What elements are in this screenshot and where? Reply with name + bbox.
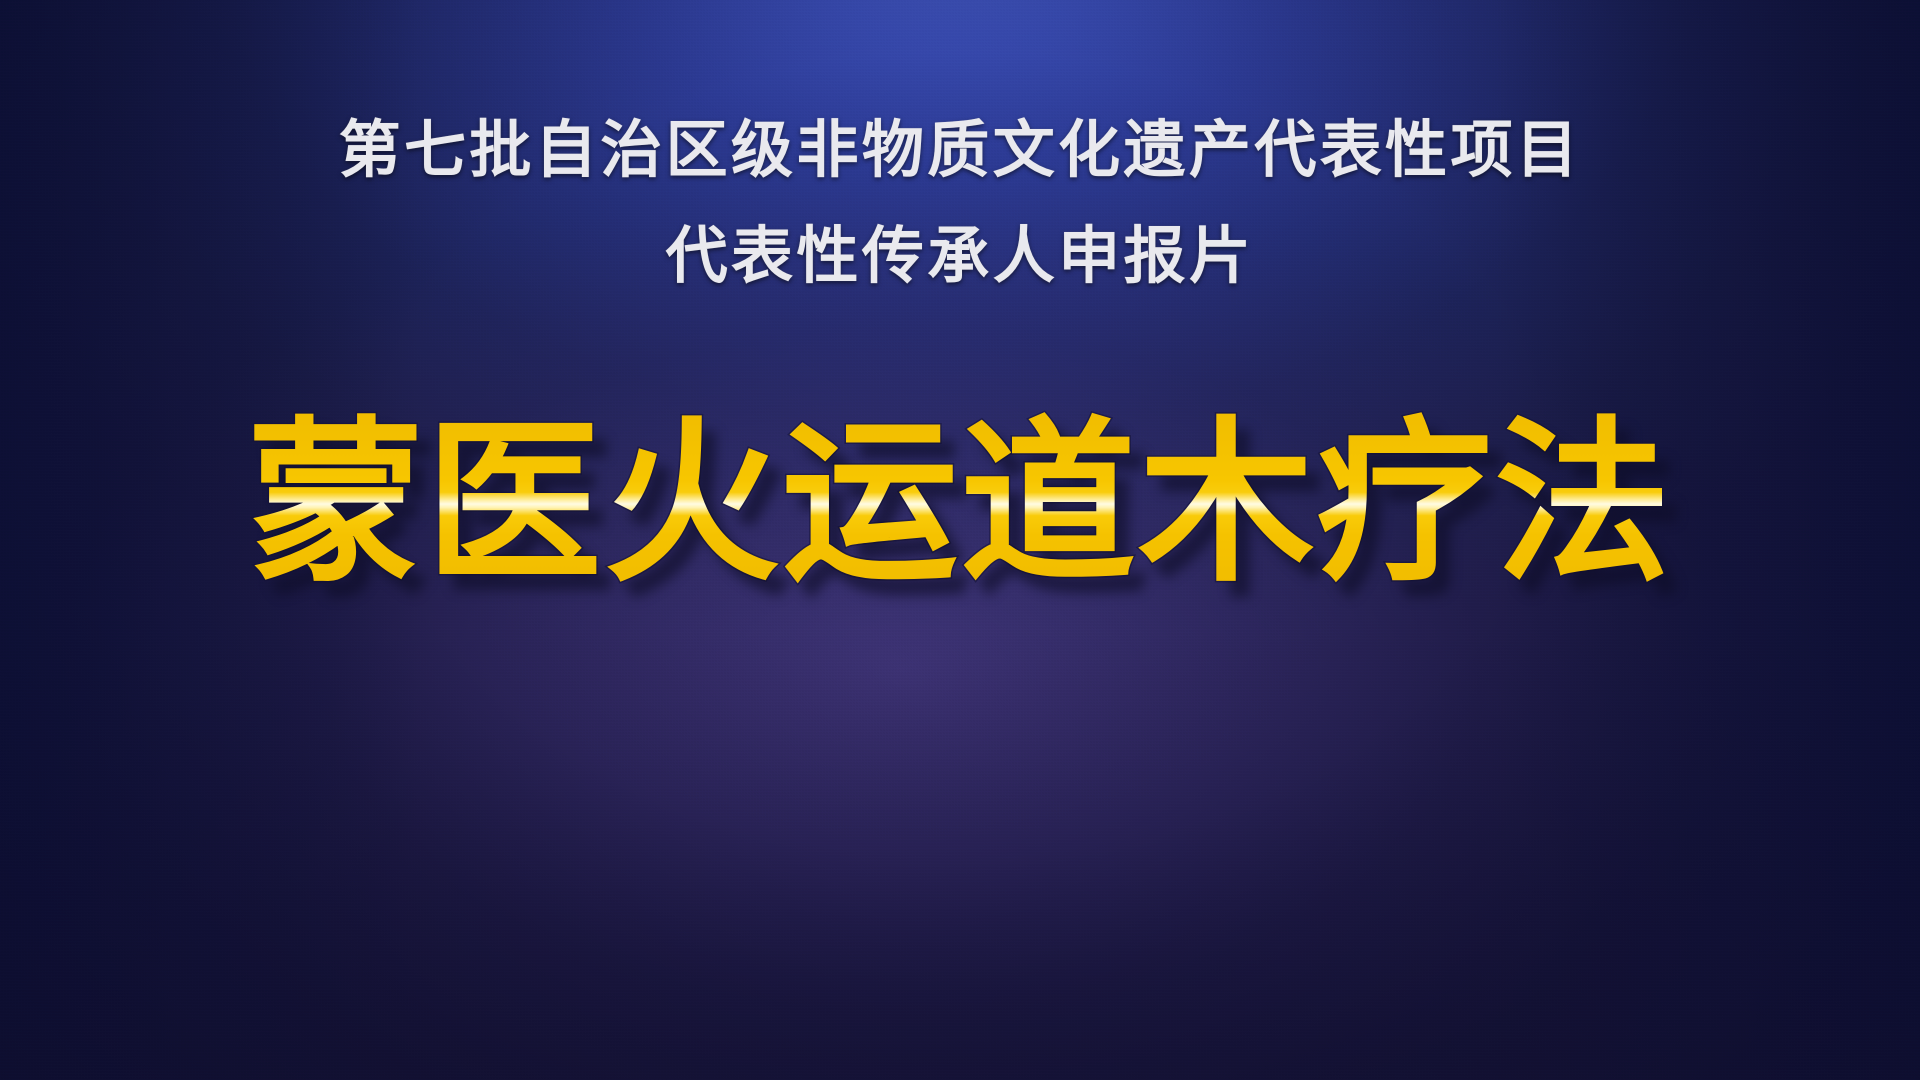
main-title-face: 蒙医火运道木疗法 xyxy=(248,406,1673,602)
main-title: 蒙医火运道木疗法 蒙医火运道木疗法 蒙医火运道木疗法 xyxy=(248,404,1673,604)
main-title-container: 蒙医火运道木疗法 蒙医火运道木疗法 蒙医火运道木疗法 xyxy=(0,404,1920,664)
title-content: 第七批自治区级非物质文化遗产代表性项目 代表性传承人申报片 蒙医火运道木疗法 蒙… xyxy=(0,0,1920,1080)
subtitle-line-1: 第七批自治区级非物质文化遗产代表性项目 xyxy=(0,112,1920,190)
subtitle-line-2: 代表性传承人申报片 xyxy=(0,218,1920,296)
title-card: 第七批自治区级非物质文化遗产代表性项目 代表性传承人申报片 蒙医火运道木疗法 蒙… xyxy=(0,0,1920,1080)
